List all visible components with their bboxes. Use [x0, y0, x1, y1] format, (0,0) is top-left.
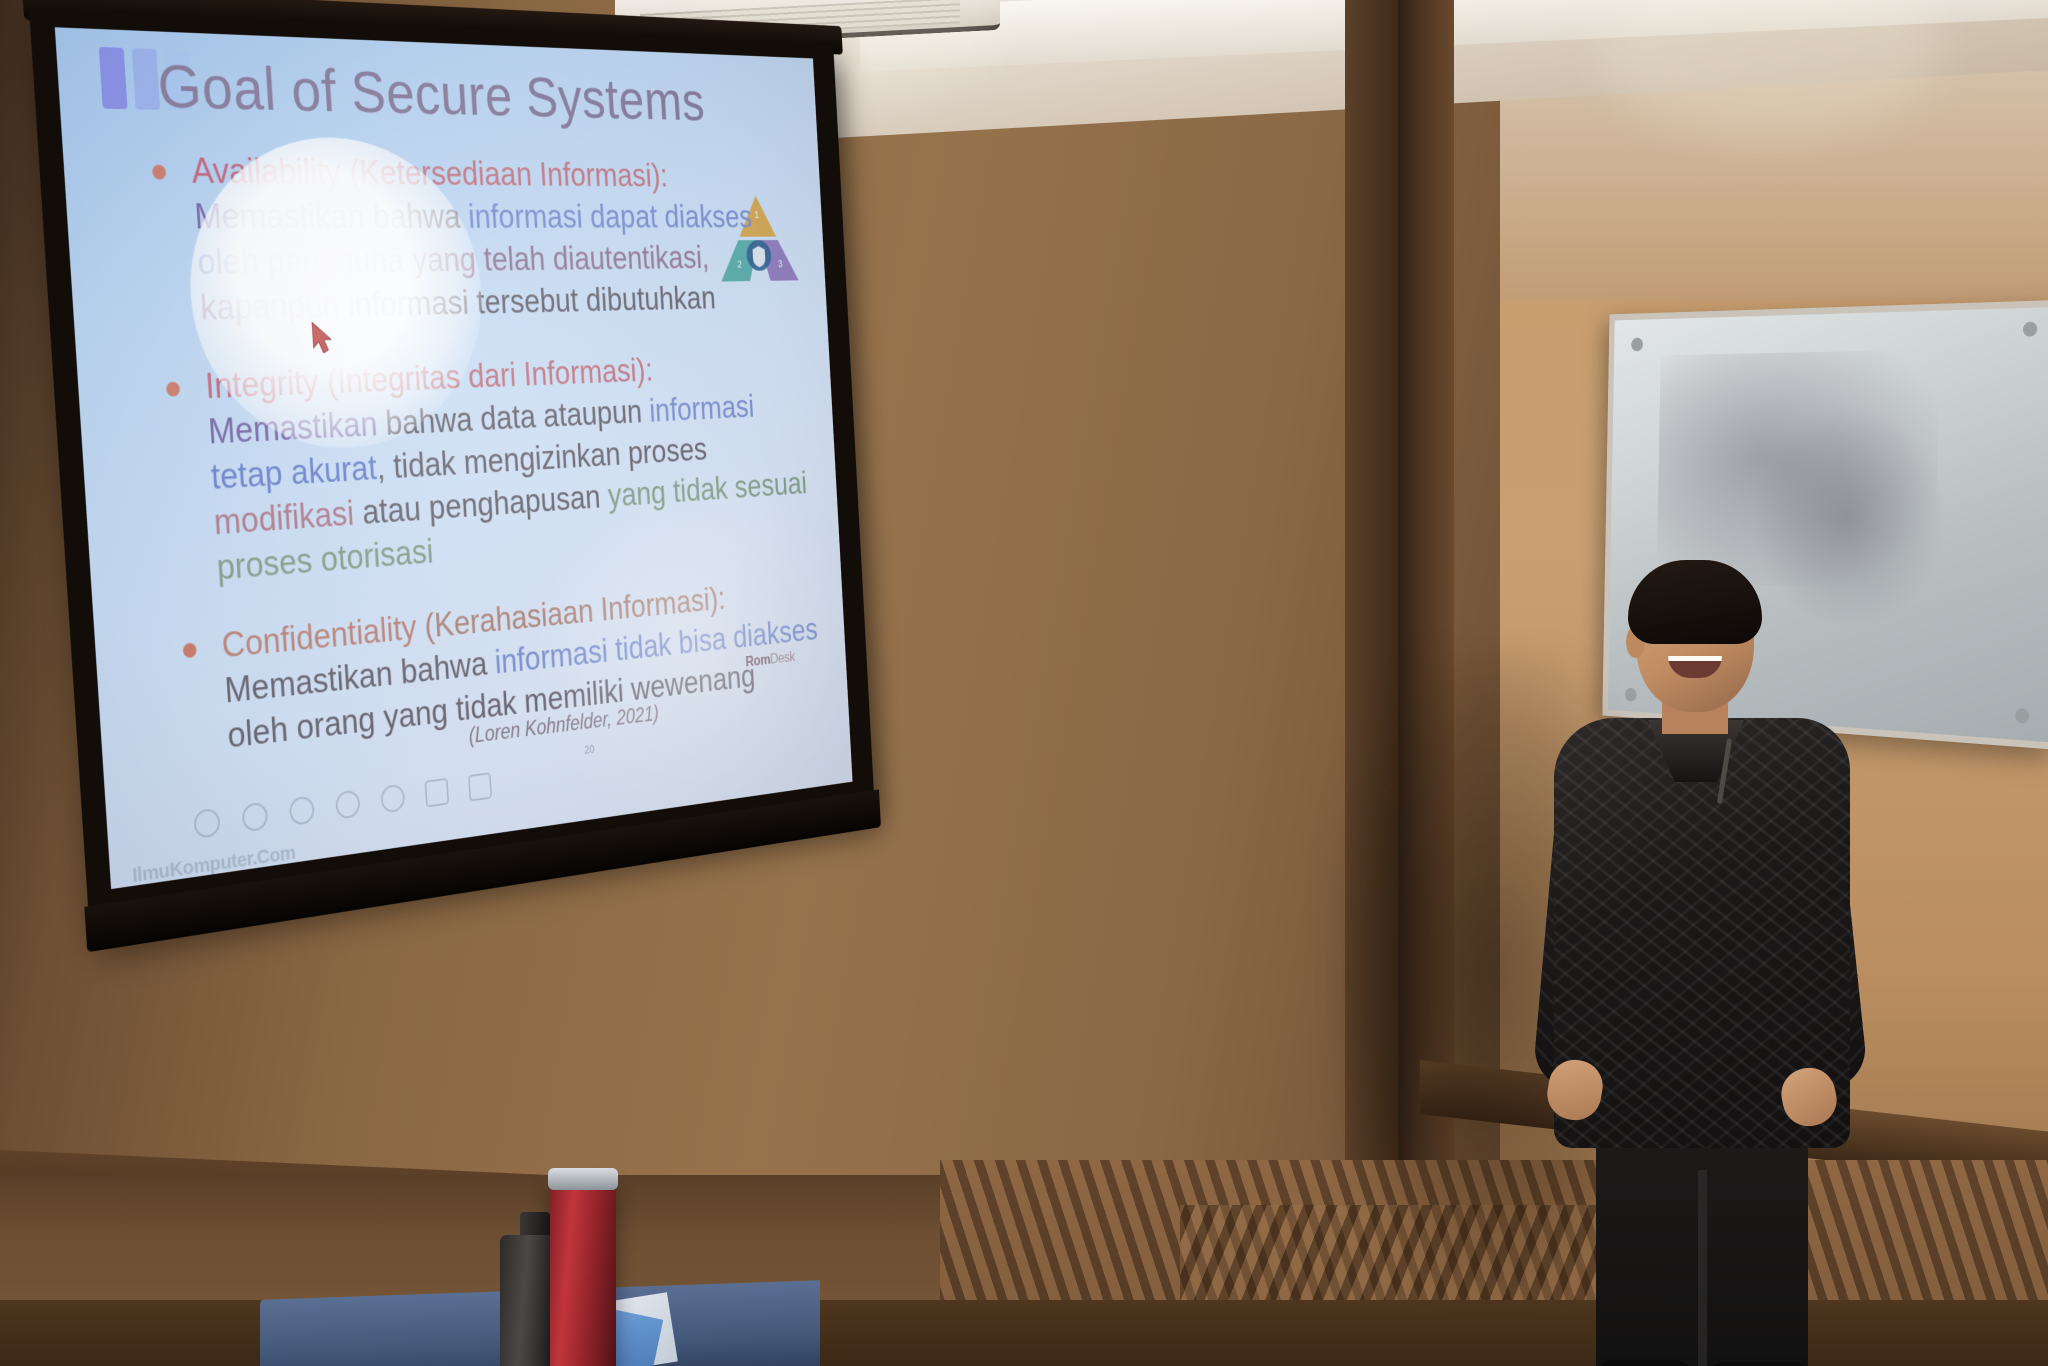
- slide-surface: Goal of Secure Systems 1 2 3 Availabilit…: [55, 27, 853, 889]
- badge-main: Rom: [745, 651, 771, 670]
- slide-page-number: 20: [584, 743, 595, 757]
- eraser-icon[interactable]: [335, 789, 361, 819]
- slide-bullet-availability: Availability (Ketersediaan Informasi):Me…: [151, 147, 810, 331]
- conference-room-scene: Goal of Secure Systems 1 2 3 Availabilit…: [0, 0, 2048, 1366]
- highlighter-icon[interactable]: [242, 801, 269, 832]
- text-segment: informasi tersebut dibutuhkan: [347, 280, 717, 324]
- text-segment: informasi dapat diakses: [467, 198, 753, 235]
- text-segment: Memastikan: [193, 196, 374, 236]
- text-segment: tetap akurat: [210, 448, 378, 496]
- slide-icon[interactable]: [425, 778, 450, 808]
- badge-sub: Desk: [770, 648, 796, 667]
- red-tumbler: [550, 1180, 616, 1366]
- text-segment: Integrity: [204, 362, 328, 406]
- whiteboard-mount: [1631, 338, 1643, 352]
- presenter-right-shoe: [1708, 1362, 1804, 1366]
- text-segment: informasi: [648, 388, 755, 428]
- presenter-left-shoe: [1602, 1360, 1692, 1366]
- slide-body: Availability (Ketersediaan Informasi):Me…: [151, 147, 832, 796]
- text-segment: oleh pengguna: [196, 241, 413, 282]
- pen-icon[interactable]: [193, 808, 220, 839]
- bullet-dot-icon: [152, 165, 166, 180]
- text-segment: proses: [216, 540, 322, 587]
- bullet-line: kapanpun informasi tersebut dibutuhkan: [160, 276, 810, 331]
- magnifier-icon[interactable]: [380, 784, 405, 814]
- presenter-leg-divider: [1698, 1170, 1707, 1366]
- tumbler-lid: [548, 1168, 618, 1190]
- bullet-line: Availability (Ketersediaan Informasi):: [151, 147, 804, 197]
- video-icon[interactable]: [468, 772, 492, 801]
- text-segment: otorisasi: [320, 532, 435, 579]
- presenter: [1540, 570, 1870, 1366]
- laser-pointer-icon[interactable]: [289, 795, 315, 826]
- slide-bullet-integrity: Integrity (Integritas dari Informasi):Me…: [165, 344, 823, 593]
- text-segment: (Ketersediaan Informasi):: [348, 153, 668, 194]
- bullet-line: Memastikan bahwa informasi dapat diakses: [154, 193, 806, 239]
- presenter-hair: [1628, 560, 1762, 644]
- text-segment: bahwa: [372, 197, 470, 235]
- text-segment: modifikasi: [213, 493, 364, 542]
- text-segment: yang telah diautentikasi,: [411, 239, 710, 278]
- slide-title: Goal of Secure Systems: [155, 51, 706, 133]
- text-segment: Availability: [190, 151, 350, 192]
- text-segment: Memastikan: [207, 404, 387, 451]
- whiteboard-mount: [2023, 322, 2038, 337]
- whiteboard-mount: [2015, 708, 2029, 724]
- projector-screen: Goal of Secure Systems 1 2 3 Availabilit…: [29, 8, 876, 946]
